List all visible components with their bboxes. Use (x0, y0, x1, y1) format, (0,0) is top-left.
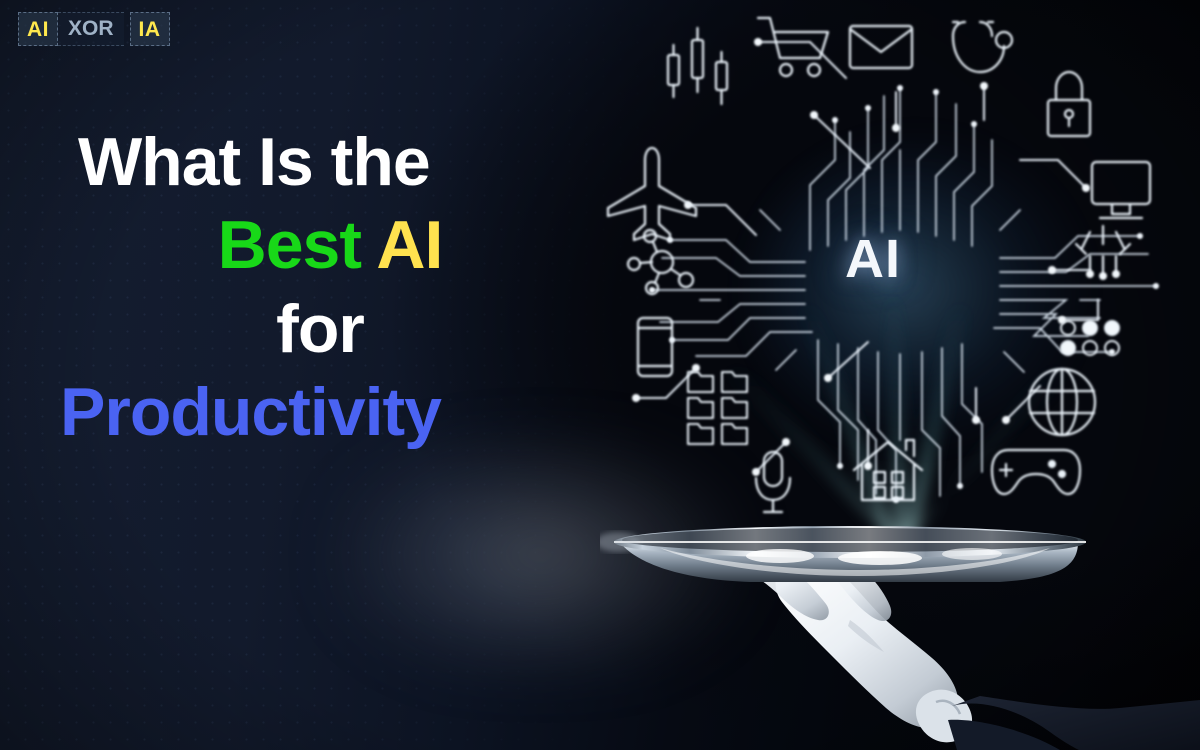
logo-ia-text: IA (130, 12, 170, 46)
smartphone-icon (638, 318, 672, 376)
headline-text-best: Best (218, 207, 361, 283)
ai-core-label: AI (845, 232, 901, 286)
site-logo[interactable]: AI XOR IA (18, 12, 170, 46)
shopping-cart-icon (758, 18, 828, 76)
candlestick-chart-icon (668, 28, 727, 104)
padlock-icon (1048, 72, 1090, 136)
headline-line-1: What Is the (0, 126, 620, 199)
headline-line-4: Productivity (0, 376, 620, 449)
envelope-icon (850, 26, 912, 68)
headline-line-3: for (0, 293, 620, 366)
monitor-icon (1092, 162, 1150, 218)
gloved-hand (744, 555, 1200, 750)
spark-icon (1076, 226, 1130, 274)
headline-text-productivity: Productivity (60, 374, 441, 450)
headline-text-ai: AI (376, 207, 442, 283)
silver-serving-tray (600, 526, 1086, 582)
logo-xor-text: XOR (58, 12, 124, 46)
headline: What Is the Best AI for Productivity (0, 126, 620, 450)
headline-text-for: for (276, 291, 364, 367)
stethoscope-icon (953, 22, 1012, 72)
tray-and-hand (600, 470, 1200, 750)
headline-line-2: Best AI (0, 209, 620, 282)
airplane-icon (608, 148, 696, 240)
hero-banner: AI XOR IA What Is the Best AI for Produc… (0, 0, 1200, 750)
logo-ai-text: AI (18, 12, 58, 46)
headline-text-what-is-the: What Is the (78, 124, 430, 200)
